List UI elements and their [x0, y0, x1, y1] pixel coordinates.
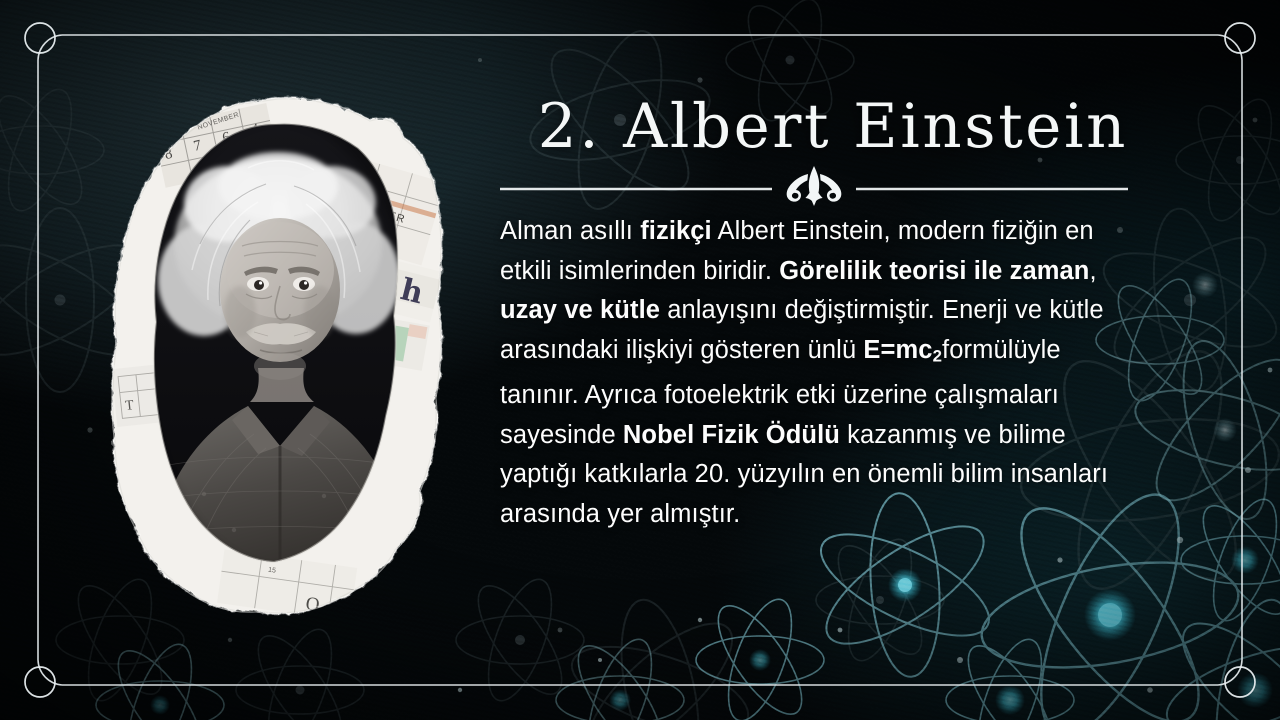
- svg-text:15: 15: [268, 567, 277, 575]
- einstein-portrait-collage: 87 64 32 NOVEMBER: [108, 94, 448, 616]
- body-paragraph: Alman asıllı fizikçi Albert Einstein, mo…: [500, 212, 1128, 534]
- presentation-slide: 87 64 32 NOVEMBER: [0, 0, 1280, 720]
- text-content-column: 2. Albert Einstein Alman ası: [500, 96, 1128, 535]
- fleuron-ornament: [787, 166, 842, 206]
- slide-body-text: Alman asıllı fizikçi Albert Einstein, mo…: [500, 212, 1128, 534]
- slide-title: 2. Albert Einstein: [500, 96, 1128, 158]
- svg-text:O: O: [304, 593, 321, 616]
- fleuron-divider: [500, 164, 1128, 208]
